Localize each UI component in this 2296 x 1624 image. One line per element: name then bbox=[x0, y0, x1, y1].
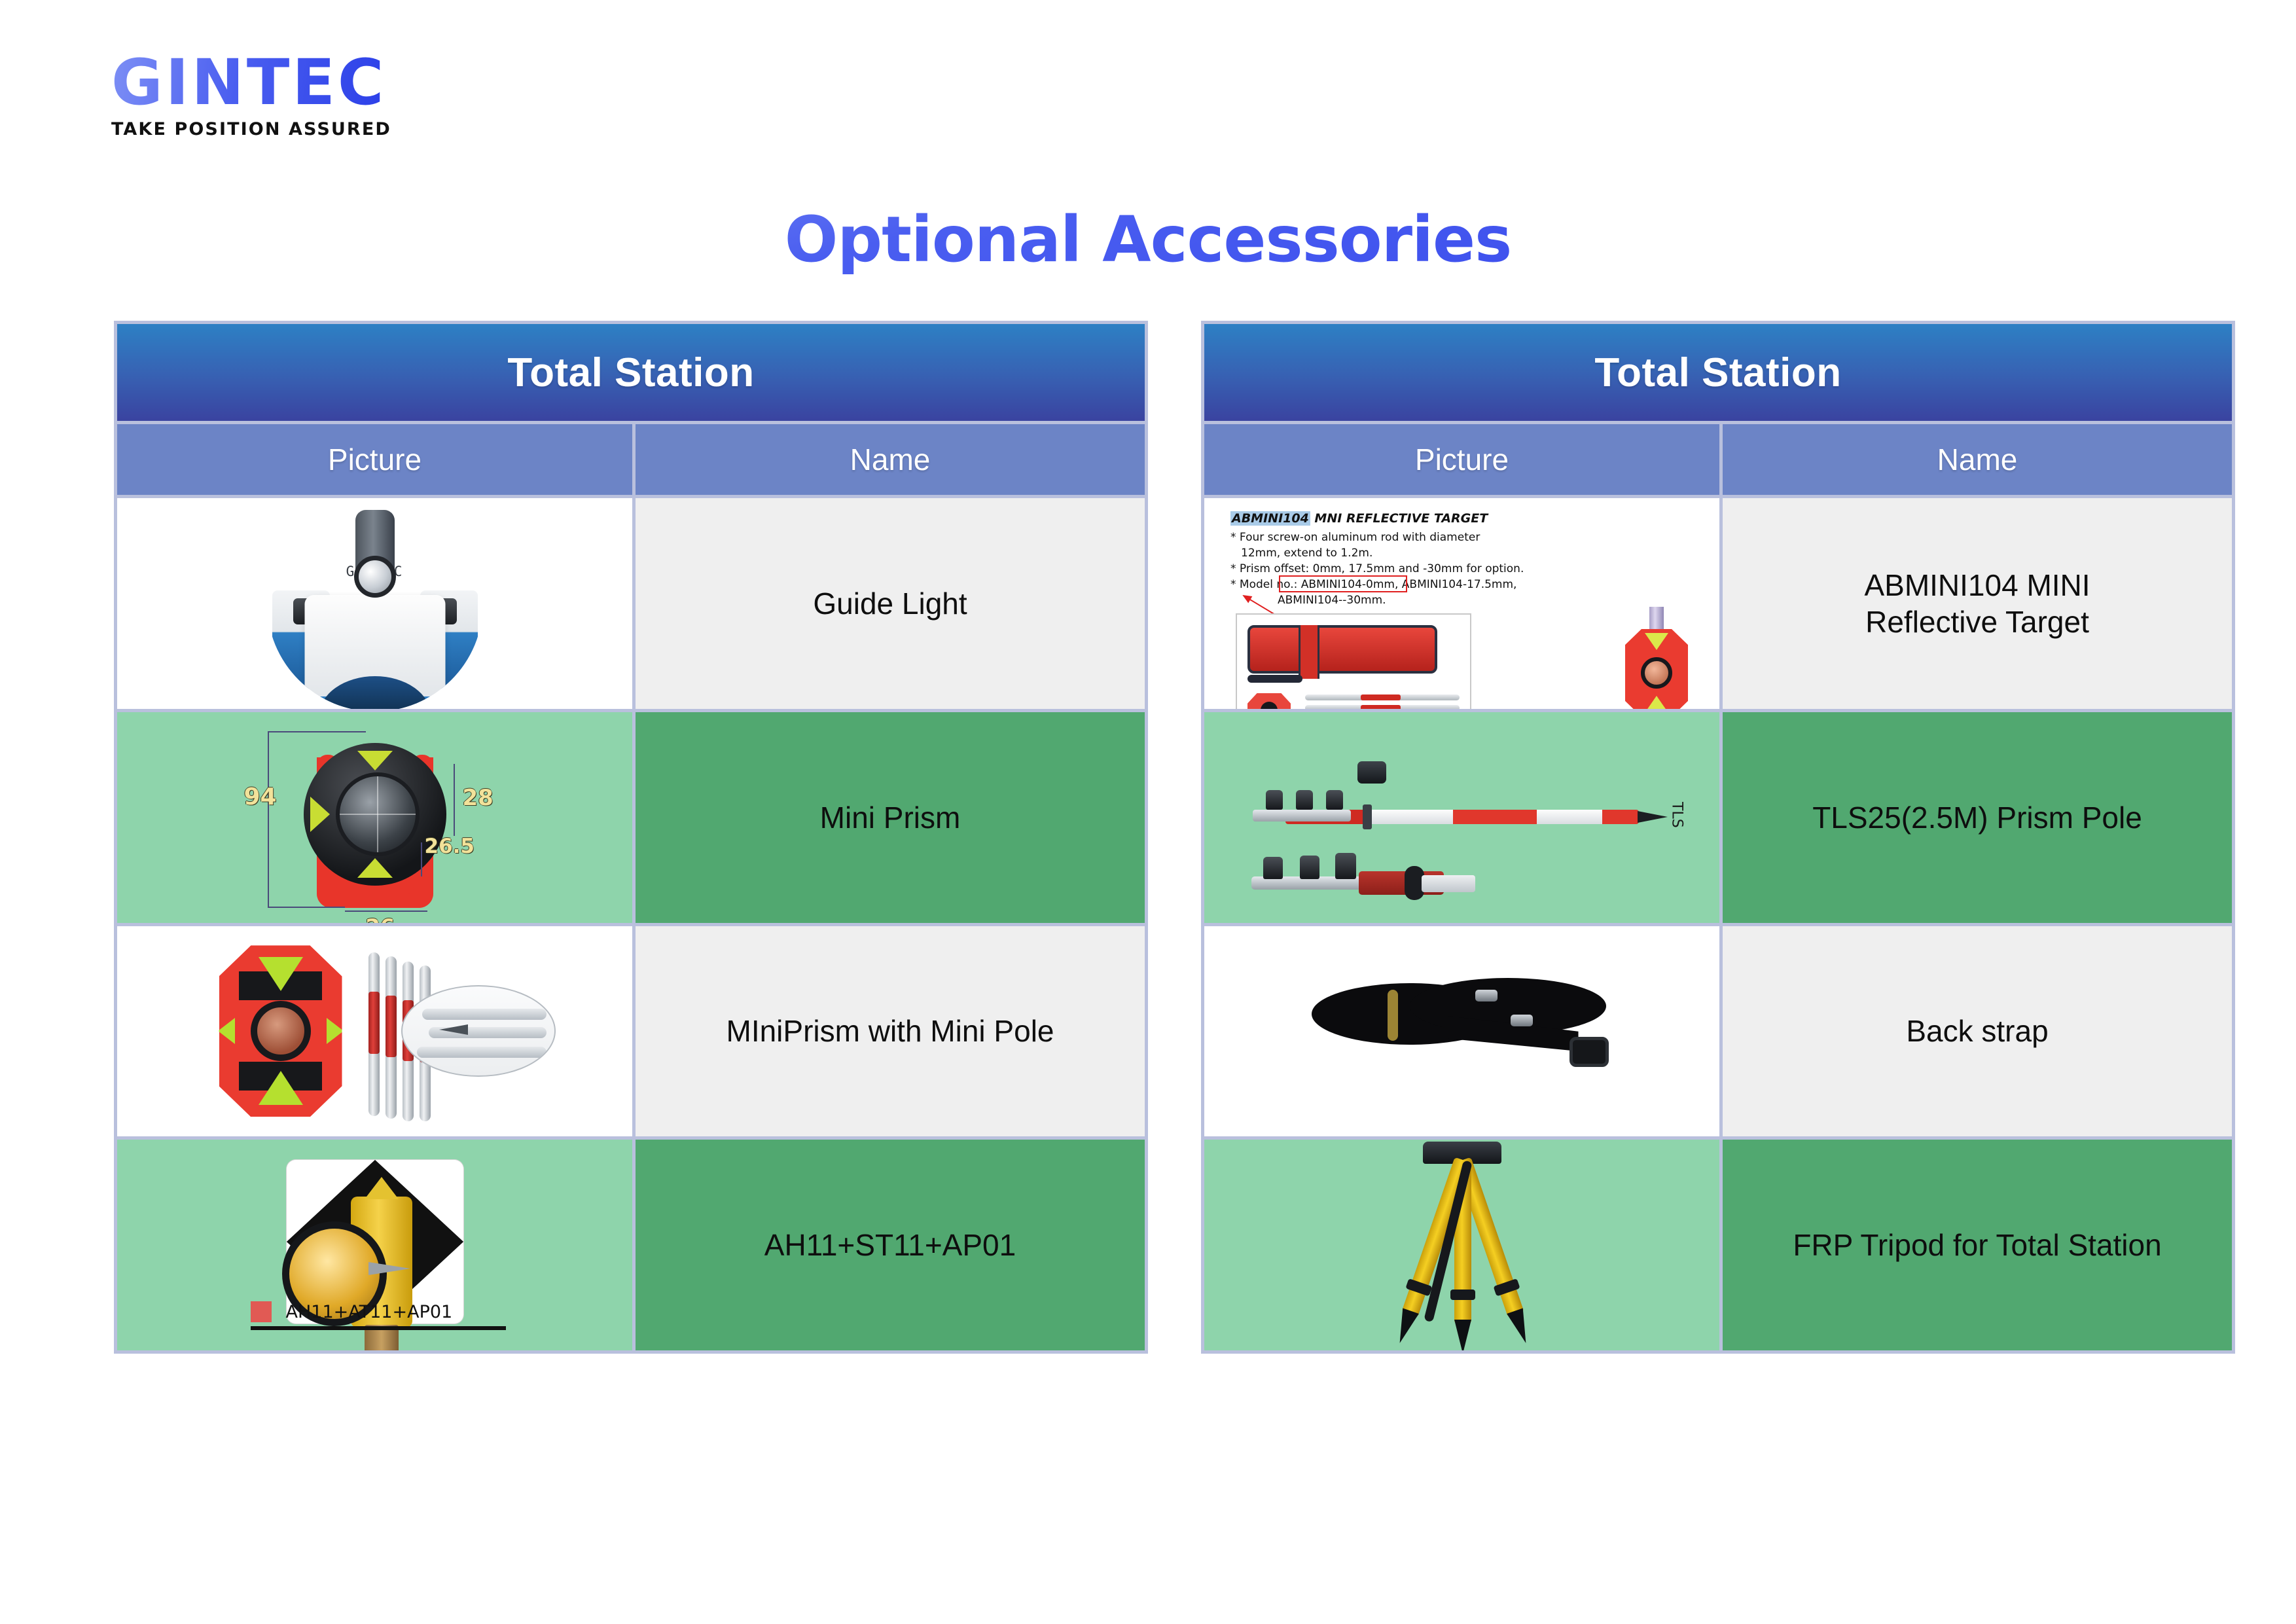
spec-title-rest: MNI REFLECTIVE TARGET bbox=[1314, 511, 1488, 526]
spec-bullet: * Prism offset: 0mm, 17.5mm and -30mm fo… bbox=[1230, 562, 1524, 575]
tripod-foot-icon bbox=[1391, 1308, 1419, 1346]
picture-cell-abmini104: ABMINI104 MNI REFLECTIVE TARGET * Four s… bbox=[1204, 498, 1719, 709]
table-header-left: Total Station bbox=[117, 324, 1145, 421]
accessories-table-left: Total Station Picture Name GINTEC bbox=[114, 321, 1148, 1354]
pole-clamp-assembly bbox=[1253, 801, 1344, 832]
name-cell: Mini Prism bbox=[636, 712, 1145, 923]
column-header-picture-right: Picture bbox=[1204, 424, 1719, 495]
column-header-name-left: Name bbox=[636, 424, 1145, 495]
strap-clip-icon bbox=[1475, 990, 1498, 1001]
column-header-name-right: Name bbox=[1723, 424, 2232, 495]
target-holder-small bbox=[1247, 693, 1291, 709]
picture-cell-frp-tripod bbox=[1204, 1140, 1719, 1350]
bag-strap bbox=[1247, 675, 1302, 683]
prism-holder bbox=[219, 945, 342, 1117]
logo-wordmark: GINTEC bbox=[111, 51, 391, 114]
pole-tip-icon bbox=[1638, 811, 1668, 823]
strap-buckle-icon bbox=[1570, 1037, 1609, 1067]
name-cell: MIniPrism with Mini Pole bbox=[636, 926, 1145, 1137]
table-row: MIniPrism with Mini Pole bbox=[117, 926, 1145, 1137]
dimension-line-vertical bbox=[268, 731, 269, 908]
picture-cell-ah11-st11-ap01: AH11+AT11+AP01 bbox=[117, 1140, 632, 1350]
carry-bag bbox=[1247, 625, 1437, 674]
dimension-label-94: 94 bbox=[244, 784, 277, 810]
page-title: Optional Accessories bbox=[0, 203, 2296, 276]
picture-cell-tls25-prism-pole: TLS bbox=[1204, 712, 1719, 923]
clamp-knob-icon bbox=[1300, 856, 1319, 879]
back-strap-icon bbox=[1312, 978, 1613, 1076]
leg-strap bbox=[1493, 1278, 1520, 1296]
dimension-line-horizontal bbox=[345, 911, 427, 912]
pole-joint bbox=[1363, 804, 1372, 829]
pole-segment-white bbox=[1537, 810, 1602, 824]
spec-sheet-title: ABMINI104 MNI REFLECTIVE TARGET bbox=[1230, 511, 1488, 526]
tripod-foot-icon bbox=[1507, 1308, 1534, 1346]
alignment-triangle-top-icon bbox=[1645, 633, 1668, 650]
picture-cell-miniprism-mini-pole bbox=[117, 926, 632, 1137]
frp-tripod-icon bbox=[1364, 1142, 1560, 1350]
name-cell: ABMINI104 MINI Reflective Target bbox=[1723, 498, 2232, 709]
spec-title-highlight: ABMINI104 bbox=[1230, 511, 1310, 526]
spec-bullet: * Four screw-on aluminum rod with diamet… bbox=[1230, 531, 1480, 544]
rod-detail bbox=[422, 1009, 547, 1020]
caption-color-swatch bbox=[251, 1301, 272, 1322]
pole-cap bbox=[1357, 761, 1386, 784]
name-cell: Guide Light bbox=[636, 498, 1145, 709]
table-subheader-left: Picture Name bbox=[117, 424, 1145, 495]
prism-top-cone-icon bbox=[365, 1177, 399, 1199]
alignment-triangle-bottom-icon bbox=[357, 858, 393, 878]
dimension-line-vertical bbox=[454, 764, 455, 836]
clamp-knob-icon bbox=[1263, 857, 1283, 879]
dimension-label-28: 28 bbox=[463, 785, 493, 811]
table-header-right: Total Station bbox=[1204, 324, 2232, 421]
spec-bullet: ABMINI104--30mm. bbox=[1278, 594, 1386, 607]
strap-clip-icon bbox=[1511, 1015, 1533, 1026]
caption-label: AH11+AT11+AP01 bbox=[286, 1302, 453, 1322]
column-header-picture-left: Picture bbox=[117, 424, 632, 495]
abmini104-spec-sheet: ABMINI104 MNI REFLECTIVE TARGET * Four s… bbox=[1227, 509, 1697, 698]
table-row: TLS bbox=[1204, 712, 2232, 923]
rod-tip-icon bbox=[439, 1024, 468, 1035]
alignment-triangle-right-icon bbox=[327, 1018, 344, 1044]
clamp-knob-icon bbox=[1326, 790, 1343, 810]
dimension-line-vertical bbox=[421, 842, 422, 876]
table-row: Back strap bbox=[1204, 926, 2232, 1137]
table-row: FRP Tripod for Total Station bbox=[1204, 1140, 2232, 1350]
leg-strap bbox=[1450, 1290, 1475, 1300]
lower-white-section bbox=[1422, 875, 1475, 892]
dimension-tick bbox=[268, 731, 366, 732]
alignment-triangle-left-icon bbox=[218, 1018, 235, 1044]
dimension-tick bbox=[268, 907, 345, 908]
table-row: AH11+AT11+AP01 AH11+ST11+AP01 bbox=[117, 1140, 1145, 1350]
prism-lens-icon bbox=[251, 1001, 311, 1061]
brand-logo: GINTEC TAKE POSITION ASSURED bbox=[111, 51, 391, 139]
name-cell: AH11+ST11+AP01 bbox=[636, 1140, 1145, 1350]
rod-detail bbox=[417, 1047, 547, 1058]
table-row: ABMINI104 MNI REFLECTIVE TARGET * Four s… bbox=[1204, 498, 2232, 709]
dimension-label-26: 26 bbox=[366, 914, 395, 923]
clamp-knob-icon bbox=[1296, 790, 1313, 810]
tripod-foot-icon bbox=[1454, 1320, 1471, 1350]
table-subheader-right: Picture Name bbox=[1204, 424, 2232, 495]
rod-detail-inset bbox=[401, 985, 556, 1077]
pole-lower-assembly bbox=[1251, 869, 1467, 895]
pole-segment-white bbox=[1368, 810, 1453, 824]
name-cell: TLS25(2.5M) Prism Pole bbox=[1723, 712, 2232, 923]
mounted-target-detail bbox=[1621, 607, 1692, 709]
caption-underline bbox=[251, 1326, 506, 1330]
reflective-target-ring bbox=[1625, 629, 1688, 709]
clamp-shaft bbox=[1253, 810, 1351, 821]
dimension-label-26-5: 26.5 bbox=[425, 835, 475, 858]
pointer-pin-icon bbox=[368, 1262, 410, 1275]
picture-cell-mini-prism: 94 28 26.5 26 bbox=[117, 712, 632, 923]
pole-segment-red bbox=[1453, 810, 1537, 824]
aluminum-rod bbox=[1305, 695, 1460, 700]
name-cell: FRP Tripod for Total Station bbox=[1723, 1140, 2232, 1350]
crosshair-icon bbox=[377, 776, 378, 852]
table-row: 94 28 26.5 26 Mini Prism bbox=[117, 712, 1145, 923]
prism-lens-icon bbox=[1641, 657, 1672, 689]
table-row: GINTEC Guide Light bbox=[117, 498, 1145, 709]
alignment-triangle-top-icon bbox=[357, 751, 393, 770]
product-photo-frame bbox=[1236, 613, 1471, 709]
picture-caption: AH11+AT11+AP01 bbox=[251, 1301, 578, 1322]
leg-strap bbox=[1405, 1278, 1432, 1296]
alignment-triangle-left-icon bbox=[310, 797, 330, 832]
pole-segment-red bbox=[1602, 810, 1639, 824]
strap-tie-band bbox=[1388, 990, 1398, 1041]
lens-icon bbox=[354, 556, 396, 598]
picture-cell-back-strap bbox=[1204, 926, 1719, 1137]
picture-cell-guide-light: GINTEC bbox=[117, 498, 632, 709]
accessories-table-right: Total Station Picture Name ABMINI104 MNI… bbox=[1201, 321, 2235, 1354]
alignment-triangle-top-icon bbox=[259, 957, 303, 991]
prism-lens-icon bbox=[336, 772, 420, 856]
alignment-triangle-bottom-icon bbox=[1645, 696, 1668, 709]
clamp-knob-icon bbox=[1335, 853, 1356, 879]
prism-head bbox=[304, 743, 446, 886]
clamp-knob-icon bbox=[1266, 790, 1283, 810]
spec-bullet: 12mm, extend to 1.2m. bbox=[1241, 547, 1372, 560]
logo-tagline: TAKE POSITION ASSURED bbox=[111, 119, 391, 139]
telescope-icon bbox=[355, 510, 395, 587]
mini-pole-rod bbox=[386, 956, 397, 1119]
mini-pole-rod bbox=[368, 952, 380, 1116]
slide-page: GINTEC TAKE POSITION ASSURED Optional Ac… bbox=[0, 0, 2296, 1624]
highlight-box bbox=[1279, 575, 1407, 592]
guide-light-icon: GINTEC bbox=[267, 498, 483, 709]
name-cell: Back strap bbox=[1723, 926, 2232, 1137]
aluminum-rod bbox=[1305, 705, 1460, 709]
alignment-triangle-bottom-icon bbox=[259, 1071, 303, 1105]
pole-label-tls: TLS bbox=[1669, 802, 1685, 828]
